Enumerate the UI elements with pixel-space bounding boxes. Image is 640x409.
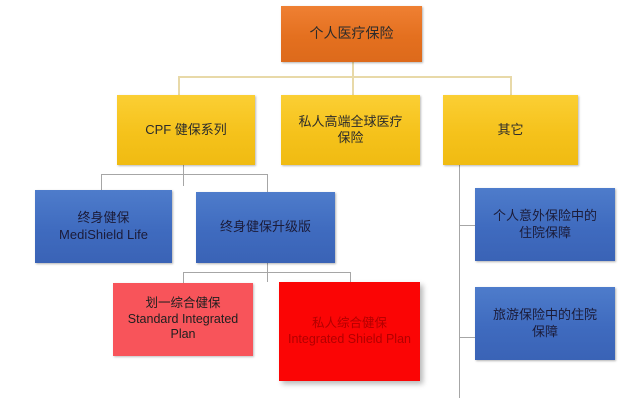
connector-level2-bus [178,76,511,78]
connector-to-other [510,76,512,95]
connector-other-stem-clip [459,318,460,319]
node-other[interactable]: 其它 [443,95,578,165]
node-private-premium-global-medical[interactable]: 私人高端全球医疗 保险 [281,95,420,165]
node-travel-insurance-hospitalization[interactable]: 旅游保险中的住院 保障 [475,287,615,360]
node-medishield-upgrade[interactable]: 终身健保升级版 [196,192,335,263]
node-root-individual-medical-insurance[interactable]: 个人医疗保险 [281,6,422,62]
node-standard-integrated-plan[interactable]: 划一综合健保 Standard Integrated Plan [113,283,253,356]
node-personal-accident-hospitalization[interactable]: 个人意外保险中的 住院保障 [475,188,615,261]
node-cpf-medishield-series[interactable]: CPF 健保系列 [117,95,255,165]
connector-to-medishield-upgrade [267,174,268,192]
connector-cpf-bus [101,174,268,175]
connector-to-medishield-life [101,174,102,190]
diagram-canvas: 个人医疗保险 CPF 健保系列 私人高端全球医疗 保险 其它 终身健保 Medi… [0,0,640,409]
connector-to-private-global [352,76,354,95]
connector-to-standard-integrated [183,272,184,283]
connector-bottom-bus [183,272,351,273]
node-integrated-shield-plan[interactable]: 私人综合健保 Integrated Shield Plan [279,282,420,381]
connector-to-cpf [178,76,180,95]
node-medishield-life[interactable]: 终身健保 MediShield Life [35,190,172,263]
connector-to-accident-hospital [459,225,475,226]
connector-other-stem [459,163,460,398]
connector-cpf-stem [183,165,184,186]
connector-to-travel-hospital [459,337,475,338]
